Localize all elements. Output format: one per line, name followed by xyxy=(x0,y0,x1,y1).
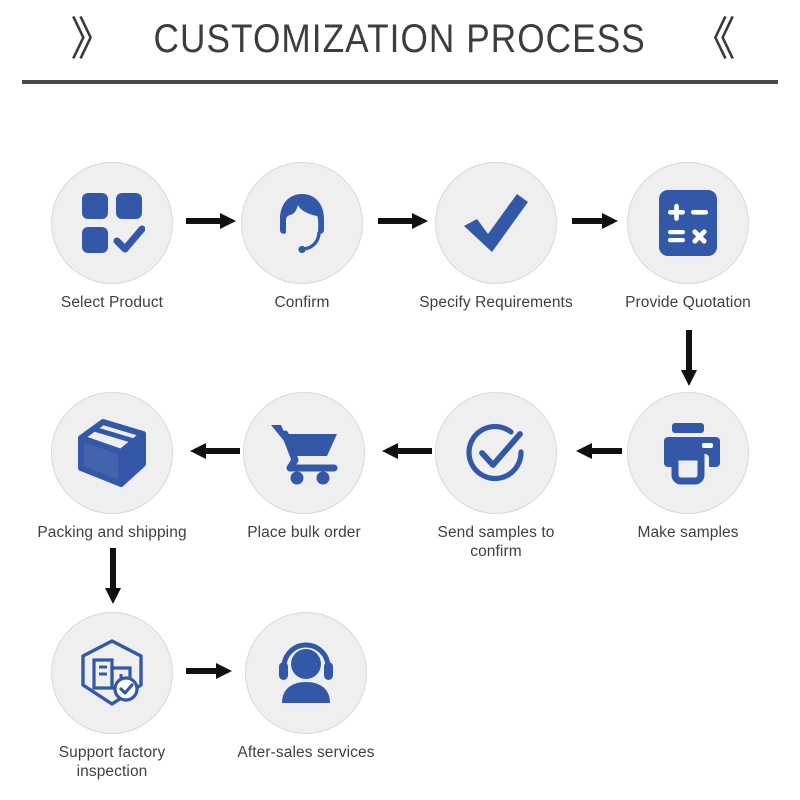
step-label: Provide Quotation xyxy=(608,293,768,312)
step-label: Place bulk order xyxy=(224,523,384,542)
step-icon-circle xyxy=(51,392,173,514)
check-mark-icon xyxy=(460,190,532,256)
connector-arrow-right xyxy=(186,212,236,230)
connector-arrow-left xyxy=(382,442,432,460)
step-label: Packing and shipping xyxy=(32,523,192,542)
step-packing-shipping[interactable]: Packing and shipping xyxy=(32,392,192,542)
connector-arrow-right xyxy=(186,662,232,680)
page-header: 》 CUSTOMIZATION PROCESS 《 xyxy=(0,0,800,84)
step-make-samples[interactable]: Make samples xyxy=(608,392,768,542)
step-label: Make samples xyxy=(608,523,768,542)
connector-arrow-left xyxy=(190,442,240,460)
step-label: Send samples to confirm xyxy=(416,523,576,561)
step-label: Specify Requirements xyxy=(416,293,576,312)
connector-arrow-down xyxy=(104,548,122,604)
step-icon-circle xyxy=(627,162,749,284)
chevron-right-icon: 《 xyxy=(690,16,730,62)
step-label: Confirm xyxy=(222,293,382,312)
step-icon-circle xyxy=(241,162,363,284)
step-select-product[interactable]: Select Product xyxy=(32,162,192,312)
step-icon-circle xyxy=(245,612,367,734)
grid-check-icon xyxy=(79,190,145,256)
step-icon-circle xyxy=(435,392,557,514)
calculator-icon xyxy=(657,188,719,258)
package-box-icon xyxy=(77,418,147,488)
printer-icon xyxy=(652,421,724,485)
circle-check-icon xyxy=(461,418,531,488)
step-send-samples[interactable]: Send samples to confirm xyxy=(416,392,576,561)
support-person-icon xyxy=(271,640,341,706)
step-specify-requirements[interactable]: Specify Requirements xyxy=(416,162,576,312)
shopping-cart-icon xyxy=(268,420,340,486)
step-label: Select Product xyxy=(32,293,192,312)
title-row: 》 CUSTOMIZATION PROCESS 《 xyxy=(0,8,800,70)
step-label: Support factory inspection xyxy=(32,743,192,781)
step-place-bulk-order[interactable]: Place bulk order xyxy=(224,392,384,542)
chevron-left-icon: 》 xyxy=(70,16,110,62)
page-title: CUSTOMIZATION PROCESS xyxy=(154,17,646,61)
connector-arrow-left xyxy=(576,442,622,460)
headset-agent-icon xyxy=(267,188,337,258)
step-icon-circle xyxy=(51,612,173,734)
factory-shield-check-icon xyxy=(77,638,147,708)
step-confirm[interactable]: Confirm xyxy=(222,162,382,312)
step-factory-inspection[interactable]: Support factory inspection xyxy=(32,612,192,781)
step-after-sales[interactable]: After-sales services xyxy=(226,612,386,762)
process-flow-diagram: Select Product Confirm Specify Requireme… xyxy=(0,84,800,800)
connector-arrow-right xyxy=(378,212,428,230)
step-label: After-sales services xyxy=(226,743,386,762)
step-icon-circle xyxy=(627,392,749,514)
step-icon-circle xyxy=(243,392,365,514)
step-provide-quotation[interactable]: Provide Quotation xyxy=(608,162,768,312)
step-icon-circle xyxy=(51,162,173,284)
connector-arrow-down xyxy=(680,330,698,386)
connector-arrow-right xyxy=(572,212,618,230)
step-icon-circle xyxy=(435,162,557,284)
